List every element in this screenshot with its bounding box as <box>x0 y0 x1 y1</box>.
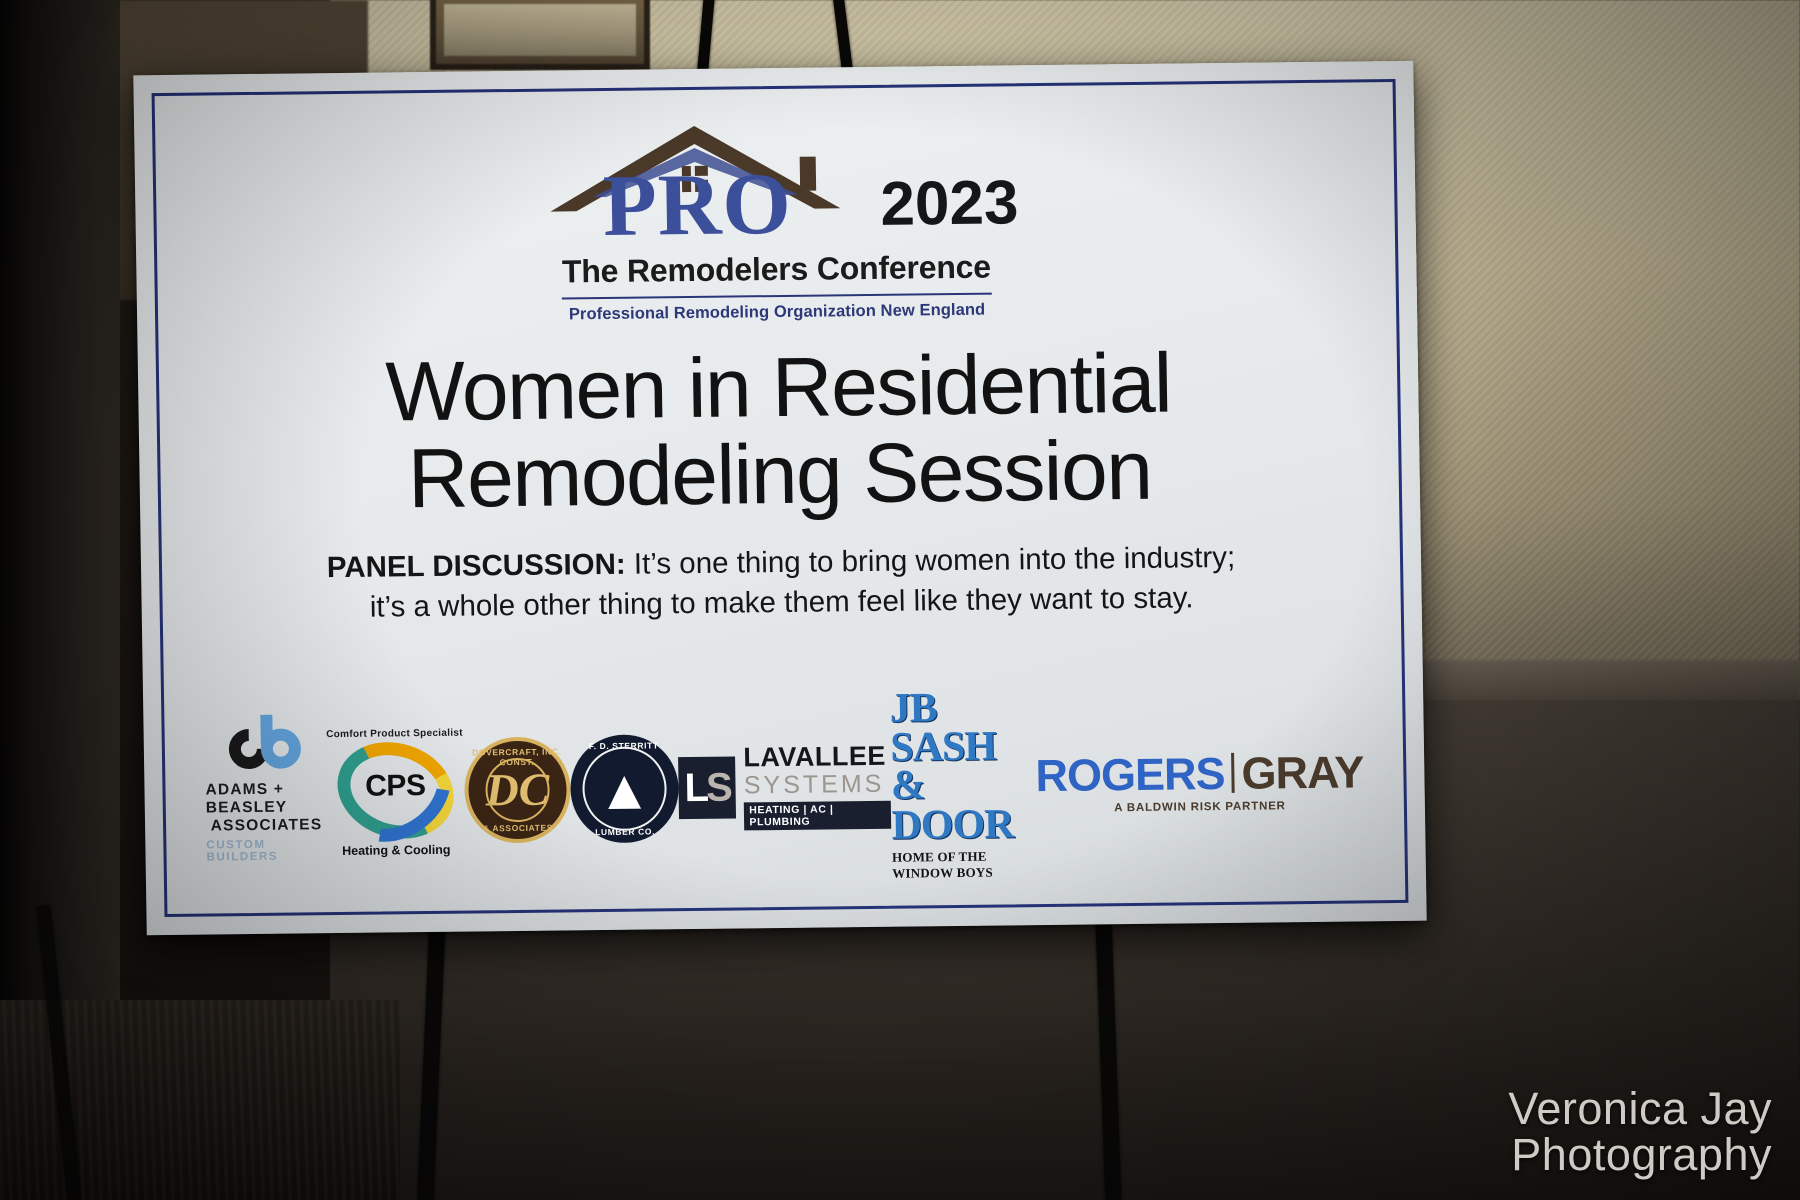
adams-beasley-name-line-2: ASSOCIATES <box>211 816 323 835</box>
panel-description: PANEL DISCUSSION: It’s one thing to brin… <box>196 536 1367 629</box>
cps-logo-mark: Comfort Product Specialist CPS Heating &… <box>325 729 465 855</box>
pro-logo-block: PRO 2023 The Remodelers Conference Profe… <box>189 110 1362 328</box>
rogers-gray-divider-icon <box>1231 753 1235 793</box>
panel-line-1-text: It’s one thing to bring women into the i… <box>625 541 1235 581</box>
lavallee-text-block: LAVALLEE SYSTEMS HEATING | AC | PLUMBING <box>743 742 891 830</box>
lavallee-ls-letters: LS <box>684 768 730 809</box>
jb-sash-name-line-2: & DOOR <box>891 765 1037 846</box>
dovercraft-monogram: DC <box>485 767 550 814</box>
pro-logo-mark: PRO <box>531 116 863 248</box>
lavallee-name-line-1: LAVALLEE <box>743 742 890 771</box>
lavallee-name-line-2: SYSTEMS <box>744 769 891 799</box>
photographer-watermark: Veronica Jay Photography <box>1508 1086 1772 1178</box>
cps-initials: CPS <box>326 769 465 805</box>
sign-headline: Women in Residential Remodeling Session <box>193 337 1366 523</box>
wall-picture-frame <box>430 0 650 70</box>
sponsor-logo-adams-beasley: ADAMS + BEASLEY ASSOCIATES CUSTOM BUILDE… <box>204 722 327 863</box>
rogers-gray-name-part-1: ROGERS <box>1035 751 1225 798</box>
adams-beasley-monogram-icon <box>229 722 302 775</box>
lavallee-tagline: HEATING | AC | PLUMBING <box>744 801 891 831</box>
sponsor-logo-rogers-gray: ROGERS GRAY A BALDWIN RISK PARTNER <box>1035 749 1364 815</box>
organization-line: Professional Remodeling Organization New… <box>192 296 1362 328</box>
panel-label: PANEL DISCUSSION: <box>327 548 626 584</box>
sponsor-logo-row: ADAMS + BEASLEY ASSOCIATES CUSTOM BUILDE… <box>198 684 1371 889</box>
photo-scene: PRO 2023 The Remodelers Conference Profe… <box>0 0 1800 1200</box>
sponsor-logo-lavallee-systems: LS LAVALLEE SYSTEMS HEATING | AC | PLUMB… <box>678 742 892 831</box>
pro-year: 2023 <box>880 172 1019 236</box>
lavallee-ls-mark-icon: LS <box>678 757 736 820</box>
rogers-gray-lockup: ROGERS GRAY <box>1035 749 1364 798</box>
lavallee-lockup: LS LAVALLEE SYSTEMS HEATING | AC | PLUMB… <box>678 742 892 831</box>
rogers-gray-name-part-2: GRAY <box>1241 749 1364 795</box>
logo-divider-rule <box>562 293 992 300</box>
sponsor-logo-cps: Comfort Product Specialist CPS Heating &… <box>325 729 465 855</box>
letter-b-ring-icon <box>261 728 302 768</box>
headline-line-1: Women in Residential <box>193 337 1364 437</box>
adams-beasley-name-line-1: ADAMS + BEASLEY <box>205 780 326 817</box>
watermark-line-1: Veronica Jay <box>1508 1086 1772 1132</box>
cps-tagline: Heating & Cooling <box>327 843 465 859</box>
headline-line-2: Remodeling Session <box>194 424 1365 524</box>
pro-logo-row: PRO 2023 <box>189 110 1361 251</box>
sterritt-seal-bottom-text: LUMBER CO. <box>574 826 676 837</box>
conference-sign-board: PRO 2023 The Remodelers Conference Profe… <box>133 61 1426 935</box>
jb-sash-tagline: HOME OF THE WINDOW BOYS <box>892 848 1037 882</box>
sign-inner-border: PRO 2023 The Remodelers Conference Profe… <box>152 79 1409 917</box>
sponsor-logo-dovercraft: DOVERCRAFT, INC. CONST. DC & ASSOCIATES <box>464 736 572 843</box>
sterritt-seal-top-text: F. D. STERRITT <box>573 740 675 751</box>
pro-wordmark: PRO <box>532 160 863 252</box>
dovercraft-seal-top-text: DOVERCRAFT, INC. CONST. <box>468 746 566 767</box>
dovercraft-seal-icon: DOVERCRAFT, INC. CONST. DC & ASSOCIATES <box>464 736 572 843</box>
jb-sash-name-line-1: JB SASH <box>889 688 1035 767</box>
pine-tree-icon: ▲ <box>596 761 652 818</box>
rogers-gray-tagline: A BALDWIN RISK PARTNER <box>1114 800 1286 814</box>
sponsor-logo-jb-sash-door: JB SASH & DOOR HOME OF THE WINDOW BOYS <box>889 688 1037 882</box>
cps-arc-text: Comfort Product Specialist <box>325 728 463 741</box>
sponsor-logo-sterritt-lumber: F. D. STERRITT ▲ LUMBER CO. <box>570 734 680 843</box>
sterritt-seal-icon: F. D. STERRITT ▲ LUMBER CO. <box>570 734 680 843</box>
adams-beasley-tagline: CUSTOM BUILDERS <box>206 838 327 863</box>
dovercraft-seal-bottom-text: & ASSOCIATES <box>469 822 567 833</box>
watermark-line-2: Photography <box>1508 1132 1772 1178</box>
